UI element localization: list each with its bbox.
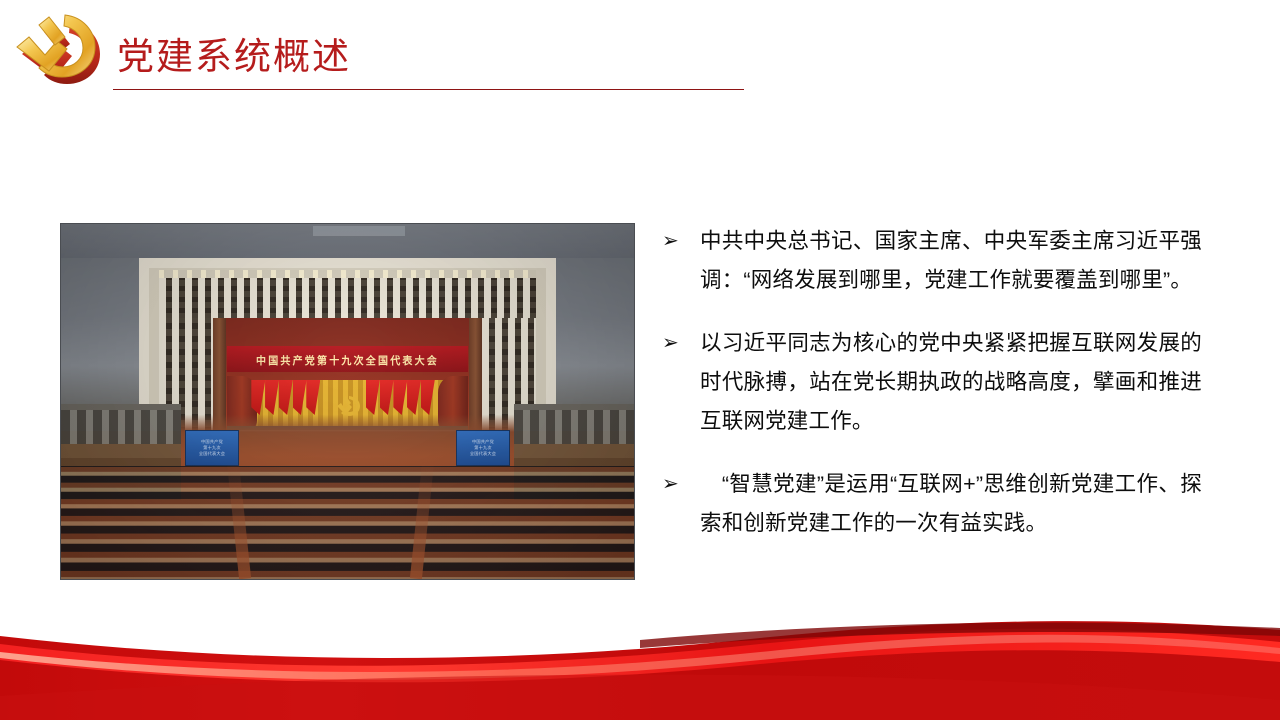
bottom-red-wave-decoration: [0, 600, 1280, 720]
wall-panel-row-left: [61, 410, 181, 444]
list-item: ➢ 以习近平同志为核心的党中央紧紧把握互联网发展的时代脉搏，站在党长期执政的战略…: [662, 324, 1202, 441]
congress-banner: 中国共产党第十九次全国代表大会: [227, 346, 468, 372]
cpc-party-emblem-icon: [8, 9, 112, 97]
slide-header: 党建系统概述: [0, 0, 1280, 110]
led-screen-left: 中国共产党 第十九次 全国代表大会: [185, 430, 239, 466]
led-screen-right: 中国共产党 第十九次 全国代表大会: [456, 430, 510, 466]
ceiling-vent: [313, 226, 405, 236]
arrow-bullet-icon: ➢: [662, 465, 692, 504]
arrow-bullet-icon: ➢: [662, 222, 692, 261]
title-underline-divider: [113, 89, 744, 90]
led-screen-right-text: 中国共产党 第十九次 全国代表大会: [470, 439, 496, 457]
slide-root: 党建系统概述 中国共产党第十九次全国代表大会: [0, 0, 1280, 720]
congress-banner-text: 中国共产党第十九次全国代表大会: [256, 351, 439, 367]
photo-content: 中国共产党第十九次全国代表大会: [61, 224, 634, 579]
page-title: 党建系统概述: [117, 33, 351, 81]
list-item-text: 以习近平同志为核心的党中央紧紧把握互联网发展的时代脉搏，站在党长期执政的战略高度…: [700, 324, 1202, 441]
bullet-list: ➢ 中共中央总书记、国家主席、中央军委主席习近平强调：“网络发展到哪里，党建工作…: [662, 222, 1202, 543]
list-item-text: “智慧党建”是运用“互联网+”思维创新党建工作、探索和创新党建工作的一次有益实践…: [700, 465, 1202, 543]
list-item-text: 中共中央总书记、国家主席、中央军委主席习近平强调：“网络发展到哪里，党建工作就要…: [700, 222, 1202, 300]
hall-ceiling: [61, 224, 634, 258]
list-item: ➢ “智慧党建”是运用“互联网+”思维创新党建工作、探索和创新党建工作的一次有益…: [662, 465, 1202, 543]
audience-seating: [61, 466, 634, 579]
wall-panel-row-right: [514, 410, 634, 444]
congress-hall-photo: 中国共产党第十九次全国代表大会: [61, 224, 634, 579]
arrow-bullet-icon: ➢: [662, 324, 692, 363]
led-screen-left-text: 中国共产党 第十九次 全国代表大会: [199, 439, 225, 457]
list-item: ➢ 中共中央总书记、国家主席、中央军委主席习近平强调：“网络发展到哪里，党建工作…: [662, 222, 1202, 300]
ceiling-light-strip: [159, 270, 536, 278]
auditorium-floor: 中国共产党 第十九次 全国代表大会 中国共产党 第十九次 全国代表大会: [61, 404, 634, 579]
